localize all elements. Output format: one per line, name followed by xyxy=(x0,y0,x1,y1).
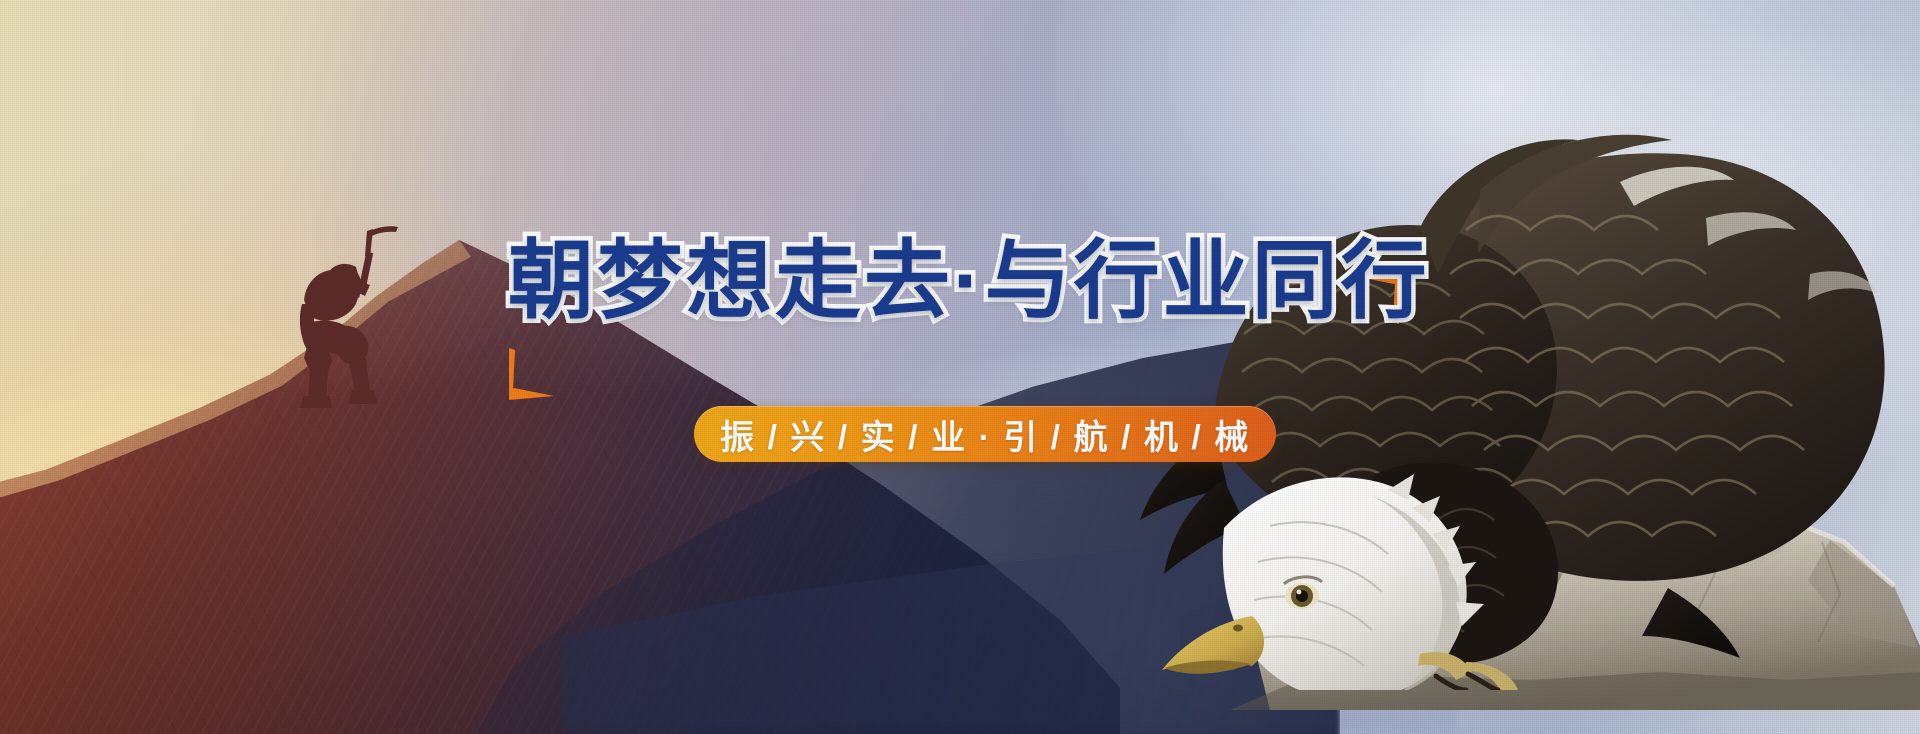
tagline-text: 振 / 兴 / 实 / 业 · 引 / 航 / 机 / 械 xyxy=(720,410,1250,459)
tagline-badge: 振 / 兴 / 实 / 业 · 引 / 航 / 机 / 械 xyxy=(694,406,1276,462)
corner-bracket-bottom-left xyxy=(500,348,556,404)
miner-silhouette xyxy=(246,218,416,408)
hero-banner: 朝梦想走去·与行业同行 振 / 兴 / 实 / 业 · 引 / 航 / 机 / … xyxy=(0,0,1920,734)
bald-eagle xyxy=(1120,50,1920,690)
page-title: 朝梦想走去·与行业同行 xyxy=(508,238,1430,324)
